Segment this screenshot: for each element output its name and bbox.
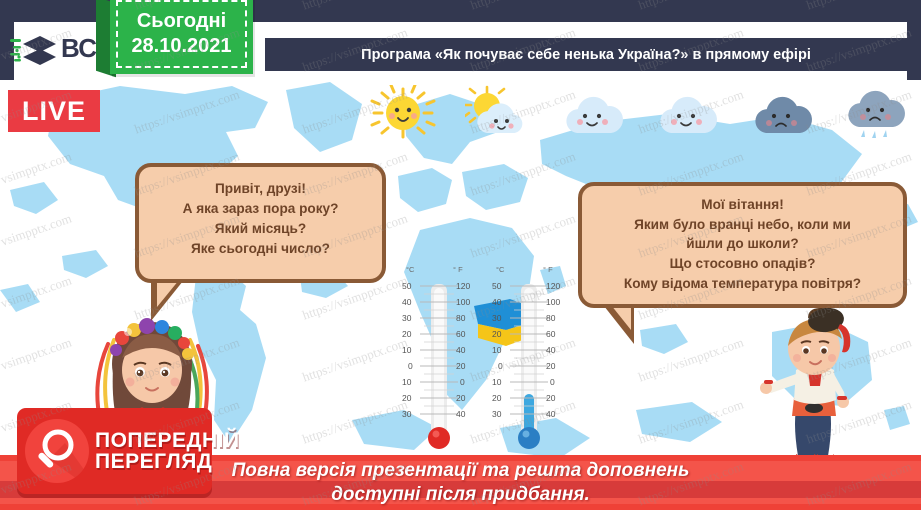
bottom-white-strip bbox=[0, 510, 921, 518]
svg-text:40: 40 bbox=[546, 409, 556, 419]
svg-text:20: 20 bbox=[546, 393, 556, 403]
svg-text:120: 120 bbox=[456, 281, 470, 291]
svg-text:30: 30 bbox=[492, 409, 502, 419]
svg-text:40: 40 bbox=[492, 297, 502, 307]
purchase-banner-line-2: доступні після придбання. bbox=[331, 483, 590, 506]
bubble-right-line-4: Що стосовно опадів? bbox=[590, 254, 895, 274]
svg-text:20: 20 bbox=[402, 329, 412, 339]
svg-text:30: 30 bbox=[492, 313, 502, 323]
svg-text:0: 0 bbox=[408, 361, 413, 371]
program-title-bar: Програма «Як почуває себе ненька Україна… bbox=[265, 38, 907, 71]
preview-line-2: ПЕРЕГЛЯД bbox=[95, 451, 240, 472]
cloud-icon bbox=[560, 85, 626, 141]
svg-text:40: 40 bbox=[546, 345, 556, 355]
today-date: 28.10.2021 bbox=[131, 34, 231, 59]
graduation-cap-icon bbox=[10, 33, 56, 73]
svg-text:60: 60 bbox=[456, 329, 466, 339]
svg-text:30: 30 bbox=[402, 313, 412, 323]
svg-text:30: 30 bbox=[402, 409, 412, 419]
today-label: Сьогодні bbox=[137, 9, 226, 34]
boy-character bbox=[752, 308, 882, 468]
purchase-banner-line-1: Повна версія презентації та решта доповн… bbox=[232, 459, 690, 482]
svg-text:20: 20 bbox=[492, 393, 502, 403]
live-badge: LIVE bbox=[8, 90, 100, 132]
bubble-right-tail-fill bbox=[611, 305, 631, 330]
svg-text:20: 20 bbox=[492, 329, 502, 339]
dark-cloud-icon bbox=[749, 85, 815, 141]
svg-text:10: 10 bbox=[402, 377, 412, 387]
cloud-icon bbox=[654, 85, 720, 141]
svg-text:60: 60 bbox=[546, 329, 556, 339]
svg-text:120: 120 bbox=[546, 281, 560, 291]
bubble-left-line-1: Привіт, друзі! bbox=[149, 179, 372, 199]
svg-text:40: 40 bbox=[456, 345, 466, 355]
bubble-left-line-2: А яка зараз пора року? bbox=[149, 199, 372, 219]
program-title: Програма «Як почуває себе ненька Україна… bbox=[361, 47, 811, 63]
svg-text:40: 40 bbox=[456, 409, 466, 419]
bubble-right-line-3: йшли до школи? bbox=[590, 234, 895, 254]
fahrenheit-unit-label: ° F bbox=[543, 265, 553, 274]
svg-text:100: 100 bbox=[456, 297, 470, 307]
fahrenheit-unit-label: ° F bbox=[453, 265, 463, 274]
svg-text:20: 20 bbox=[456, 361, 466, 371]
preview-line-1: ПОПЕРЕДНІЙ bbox=[95, 430, 240, 451]
bubble-right-line-5: Кому відома температура повітря? bbox=[590, 274, 895, 294]
live-label: LIVE bbox=[22, 96, 86, 127]
svg-text:0: 0 bbox=[460, 377, 465, 387]
svg-text:20: 20 bbox=[546, 361, 556, 371]
speech-bubble-right: Мої вітання! Яким було вранці небо, коли… bbox=[578, 182, 907, 308]
svg-text:40: 40 bbox=[402, 297, 412, 307]
magnifier-icon bbox=[25, 419, 89, 483]
preview-badge[interactable]: ПОПЕРЕДНІЙ ПЕРЕГЛЯД bbox=[17, 408, 212, 494]
celsius-unit-label: °C bbox=[406, 265, 415, 274]
svg-text:50: 50 bbox=[402, 281, 412, 291]
speech-bubble-left: Привіт, друзі! А яка зараз пора року? Як… bbox=[135, 163, 386, 283]
thermometer-blue: °C ° F 504030 20100 102030 bbox=[488, 262, 570, 457]
bubble-left-line-4: Яке сьогодні число? bbox=[149, 239, 372, 259]
bubble-right-line-2: Яким було вранці небо, коли ми bbox=[590, 215, 895, 235]
svg-text:20: 20 bbox=[402, 393, 412, 403]
svg-text:50: 50 bbox=[492, 281, 502, 291]
weather-icons-row bbox=[370, 84, 910, 142]
sun-behind-cloud-icon bbox=[465, 85, 531, 141]
slide-root: °C ° F 504030 20100 102030 bbox=[0, 0, 921, 518]
today-date-badge: Сьогодні 28.10.2021 bbox=[110, 0, 253, 74]
svg-text:10: 10 bbox=[492, 345, 502, 355]
svg-text:80: 80 bbox=[546, 313, 556, 323]
bubble-left-line-3: Який місяць? bbox=[149, 219, 372, 239]
svg-text:100: 100 bbox=[546, 297, 560, 307]
sun-icon bbox=[370, 85, 436, 141]
svg-text:10: 10 bbox=[402, 345, 412, 355]
celsius-unit-label: °C bbox=[496, 265, 505, 274]
svg-text:20: 20 bbox=[456, 393, 466, 403]
svg-text:10: 10 bbox=[492, 377, 502, 387]
bubble-left-tail-fill bbox=[157, 280, 179, 307]
svg-text:0: 0 bbox=[498, 361, 503, 371]
rain-cloud-icon bbox=[844, 85, 910, 141]
bubble-right-line-1: Мої вітання! bbox=[590, 195, 895, 215]
thermometer-red: °C ° F 504030 20100 102030 bbox=[398, 262, 480, 457]
svg-text:80: 80 bbox=[456, 313, 466, 323]
navy-right-bar bbox=[907, 0, 921, 80]
svg-text:0: 0 bbox=[550, 377, 555, 387]
